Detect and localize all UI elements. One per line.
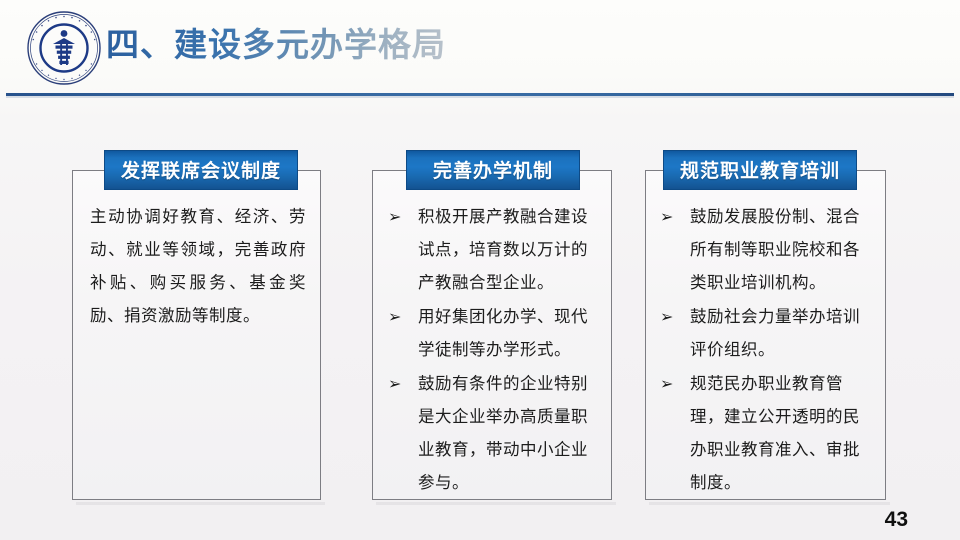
content-columns: 发挥联席会议制度 完善办学机制 规范职业教育培训 主动协调好教育、经济、劳动、就… <box>0 0 960 540</box>
card-title-banner-2: 完善办学机制 <box>406 150 580 190</box>
card-body-2: ➢ 积极开展产教融合建设试点，培育数以万计的产教融合型企业。 ➢ 用好集团化办学… <box>388 200 600 500</box>
bullet-text: 鼓励发展股份制、混合所有制等职业院校和各类职业培训机构。 <box>690 200 876 299</box>
bullet-list-item: ➢ 规范民办职业教育管理，建立公开透明的民办职业教育准入、审批制度。 <box>660 367 876 499</box>
arrow-bullet-icon: ➢ <box>660 300 684 333</box>
bullet-list-item: ➢ 鼓励社会力量举办培训评价组织。 <box>660 300 876 366</box>
bullet-text: 规范民办职业教育管理，建立公开透明的民办职业教育准入、审批制度。 <box>690 367 876 499</box>
arrow-bullet-icon: ➢ <box>388 300 412 333</box>
card-shadow <box>649 502 890 505</box>
card-shadow <box>376 502 616 505</box>
bullet-text: 积极开展产教融合建设试点，培育数以万计的产教融合型企业。 <box>418 200 600 299</box>
bullet-list-item: ➢ 鼓励发展股份制、混合所有制等职业院校和各类职业培训机构。 <box>660 200 876 299</box>
slide-canvas: 四、建设多元办学格局 发挥联席会议制度 完善办学机制 规范职业教育培训 主动协调… <box>0 0 960 540</box>
card-shadow <box>76 502 325 505</box>
card-title-banner-1: 发挥联席会议制度 <box>104 150 298 190</box>
page-number: 43 <box>885 508 908 532</box>
card-title-banner-3: 规范职业教育培训 <box>663 150 857 190</box>
bullet-text: 鼓励社会力量举办培训评价组织。 <box>690 300 876 366</box>
bullet-list-item: ➢ 积极开展产教融合建设试点，培育数以万计的产教融合型企业。 <box>388 200 600 299</box>
bullet-text: 用好集团化办学、现代学徒制等办学形式。 <box>418 300 600 366</box>
bullet-text: 鼓励有条件的企业特别是大企业举办高质量职业教育，带动中小企业参与。 <box>418 367 600 499</box>
arrow-bullet-icon: ➢ <box>388 367 412 400</box>
card-paragraph: 主动协调好教育、经济、劳动、就业等领域，完善政府补贴、购买服务、基金奖励、捐资激… <box>90 200 306 332</box>
card-body-1: 主动协调好教育、经济、劳动、就业等领域，完善政府补贴、购买服务、基金奖励、捐资激… <box>90 200 306 332</box>
arrow-bullet-icon: ➢ <box>660 367 684 400</box>
arrow-bullet-icon: ➢ <box>388 200 412 233</box>
bullet-list-item: ➢ 鼓励有条件的企业特别是大企业举办高质量职业教育，带动中小企业参与。 <box>388 367 600 499</box>
arrow-bullet-icon: ➢ <box>660 200 684 233</box>
bullet-list-item: ➢ 用好集团化办学、现代学徒制等办学形式。 <box>388 300 600 366</box>
card-body-3: ➢ 鼓励发展股份制、混合所有制等职业院校和各类职业培训机构。 ➢ 鼓励社会力量举… <box>660 200 876 500</box>
